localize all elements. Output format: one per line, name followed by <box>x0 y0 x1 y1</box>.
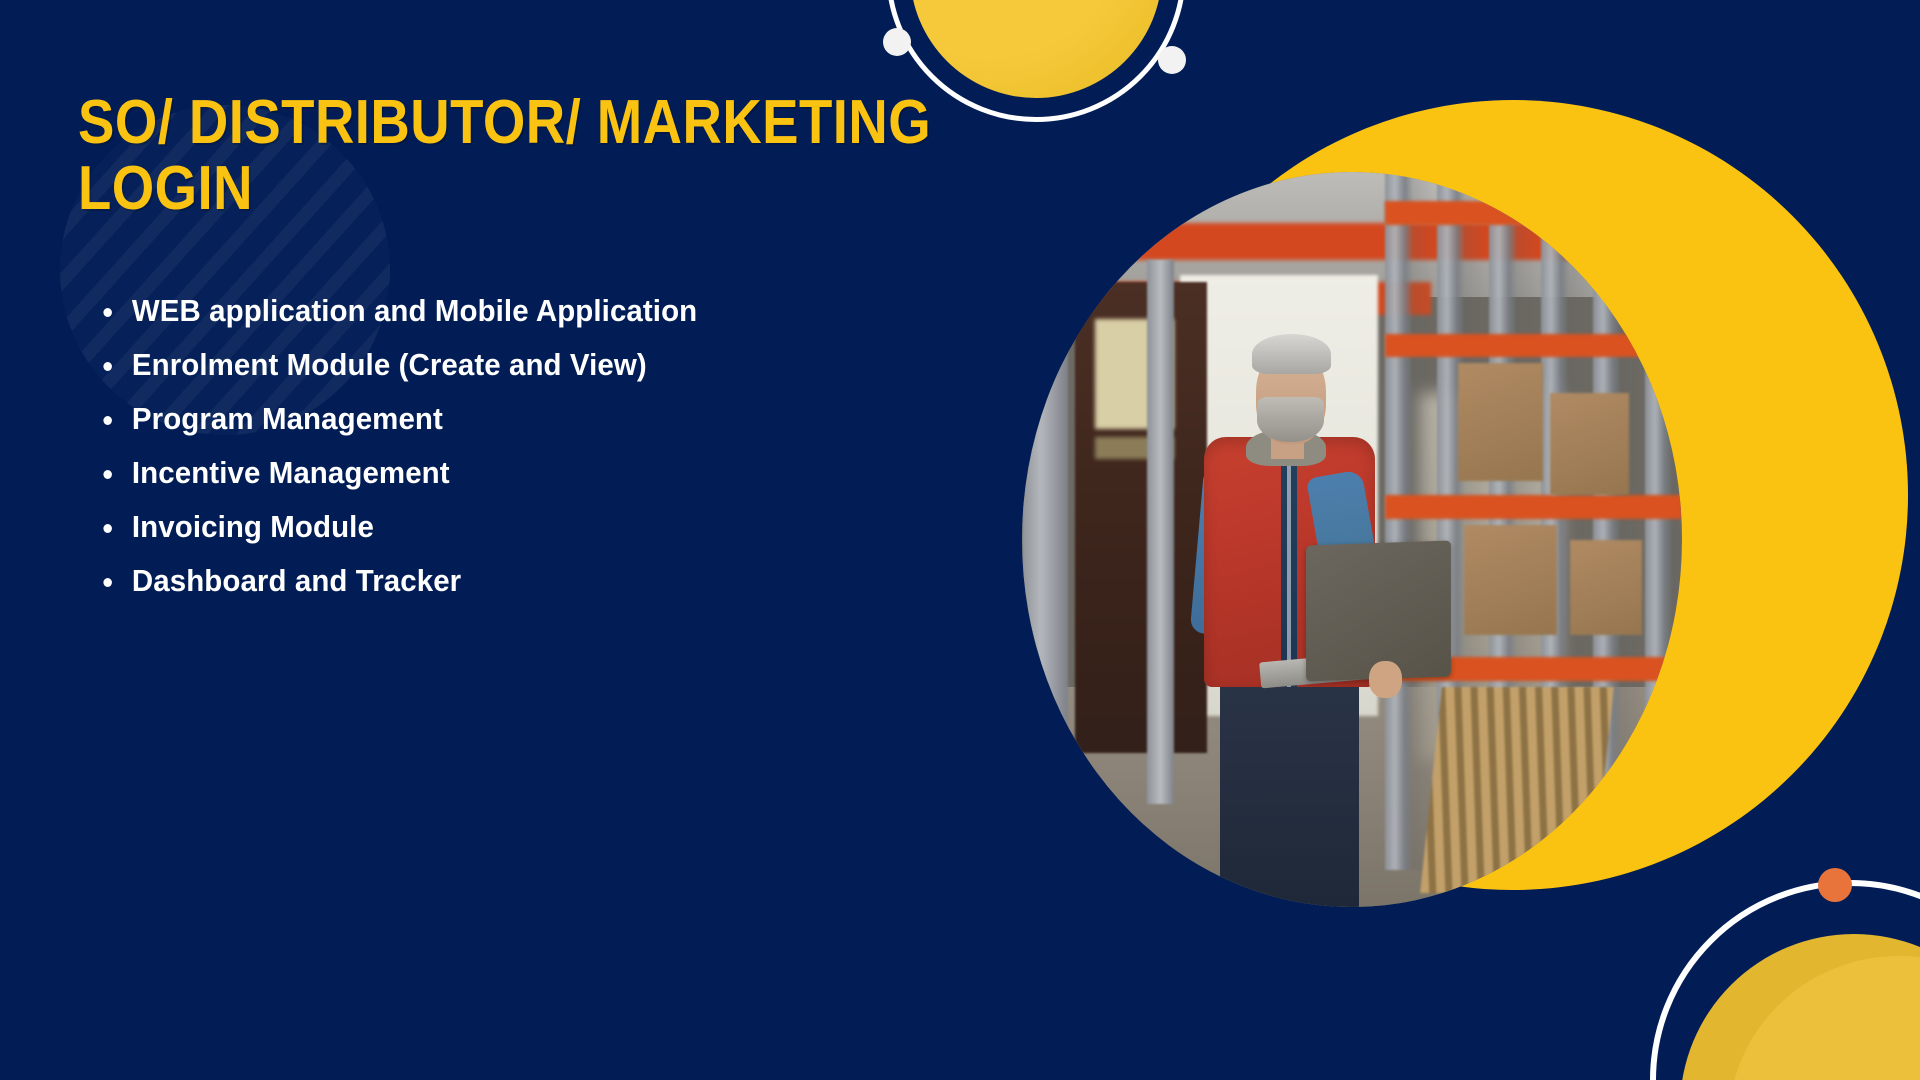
top-circle-disc <box>910 0 1162 98</box>
bottom-circle-disc-back <box>1680 934 1920 1080</box>
bottom-decorative-circle <box>1650 880 1920 1080</box>
warehouse-photo <box>1022 172 1682 907</box>
list-item: Enrolment Module (Create and View) <box>92 349 995 380</box>
bottom-circle-disc <box>1728 956 1920 1080</box>
bottom-circle-orange-dot <box>1818 868 1852 902</box>
person-vest-zipper <box>1287 444 1290 687</box>
feature-list: WEB application and Mobile Application E… <box>92 295 1042 619</box>
list-item: Program Management <box>92 403 995 434</box>
person-hair <box>1252 334 1331 374</box>
bottom-circle-ring <box>1650 880 1920 1080</box>
page-title: SO/ DISTRIBUTOR/ MARKETING LOGIN <box>78 90 958 223</box>
presentation-slide: SO/ DISTRIBUTOR/ MARKETING LOGIN WEB app… <box>0 0 1920 1080</box>
list-item: WEB application and Mobile Application <box>92 295 995 326</box>
photo-person <box>1022 172 1682 907</box>
list-item: Dashboard and Tracker <box>92 565 995 596</box>
laptop-screen-lid <box>1306 541 1451 682</box>
top-circle-dot-left <box>883 28 911 56</box>
list-item: Incentive Management <box>92 457 995 488</box>
person-hand <box>1369 661 1402 698</box>
person-beard <box>1257 397 1324 443</box>
warehouse-photo-circle <box>1022 172 1682 907</box>
person-legs <box>1220 657 1359 907</box>
top-circle-dot-right <box>1158 46 1186 74</box>
list-item: Invoicing Module <box>92 511 995 542</box>
